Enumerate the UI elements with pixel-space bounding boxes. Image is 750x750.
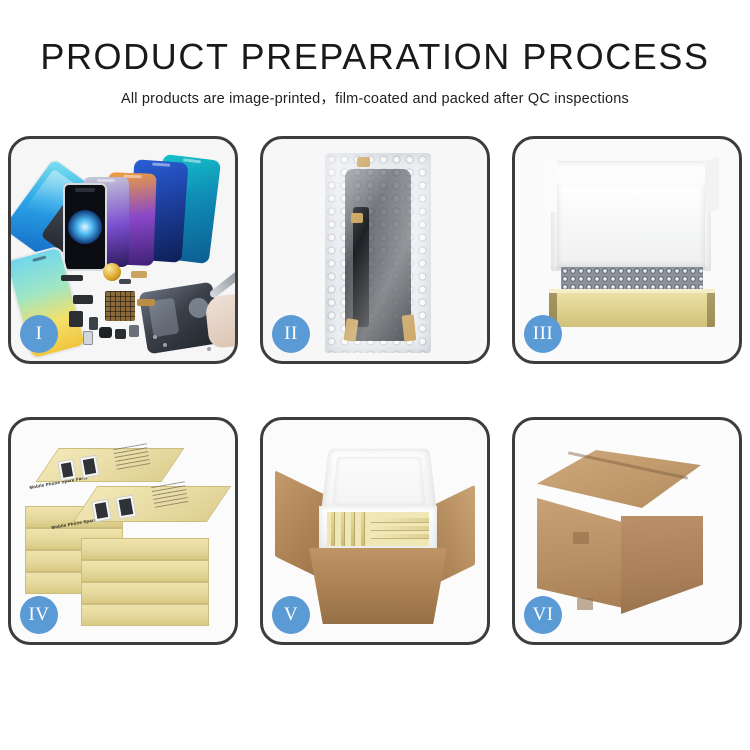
spare-part-icon (89, 317, 98, 330)
foam-lid-icon (321, 449, 437, 514)
yellow-box-face (371, 534, 429, 539)
screw-icon (153, 335, 157, 339)
yellow-box-side (81, 560, 209, 582)
boxes-inside-carton (327, 512, 429, 546)
screw-icon (163, 343, 167, 347)
notch-icon (152, 162, 170, 166)
process-step-stacked-retail-boxes: Mobile Phone Spare Parts Mobile Phone Sp… (8, 417, 238, 645)
step-badge-4: IV (20, 596, 58, 634)
spare-part-icon (129, 325, 139, 337)
spare-part-icon (69, 311, 83, 327)
box-thumbnail (115, 495, 137, 520)
spare-part-icon (99, 327, 112, 338)
yellow-box-side (81, 604, 209, 626)
spare-part-icon (61, 275, 83, 281)
carton-tape-mark (577, 598, 593, 610)
spare-part-icon (137, 299, 155, 306)
yellow-box-edge (331, 512, 335, 546)
notch-icon (183, 158, 201, 163)
box-thumbnail (79, 455, 99, 479)
process-step-parts-and-screens: I (8, 136, 238, 364)
yellow-box-edge (341, 512, 345, 546)
yellow-box-face (371, 526, 429, 531)
box-thumbnail (57, 459, 76, 481)
phone-screen-black-icon (63, 183, 107, 271)
carton-top-face (537, 450, 701, 508)
connector-tab-icon (351, 213, 363, 223)
product-preparation-infographic: PRODUCT PREPARATION PROCESS All products… (0, 0, 750, 750)
step-badge-2: II (272, 315, 310, 353)
connector-tab-icon (402, 314, 417, 341)
carton-front-face (537, 498, 623, 608)
spare-part-icon (119, 279, 131, 284)
spare-part-icon (115, 329, 126, 339)
page-title: PRODUCT PREPARATION PROCESS (0, 38, 750, 76)
flex-cable-icon (353, 207, 369, 327)
yellow-box-face (371, 518, 429, 523)
gold-disc-part-icon (103, 263, 121, 281)
spare-part-icon (73, 295, 93, 304)
box-thumbnail (91, 499, 111, 523)
process-step-carton-with-foam-liner: V (260, 417, 490, 645)
spare-part-icon (131, 271, 147, 278)
step-badge-3: III (524, 315, 562, 353)
chip-grid-part-icon (105, 291, 135, 321)
process-step-foam-lined-yellow-box: III (512, 136, 742, 364)
yellow-box-side (81, 582, 209, 604)
step-badge-5: V (272, 596, 310, 634)
process-step-sealed-shipping-carton: VI (512, 417, 742, 645)
step-badge-1: I (20, 315, 58, 353)
notch-icon (97, 179, 115, 182)
spare-part-icon (83, 331, 93, 345)
yellow-box-tray-icon (549, 293, 715, 327)
page-subtitle: All products are image-printed，film-coat… (0, 87, 750, 108)
carton-side-face (621, 516, 703, 614)
step-badge-6: VI (524, 596, 562, 634)
carton-tape-mark (573, 532, 589, 544)
foam-sheet-icon (557, 185, 705, 269)
yellow-box-edge (351, 512, 355, 546)
connector-tab-icon (357, 157, 370, 167)
screw-icon (207, 347, 211, 351)
yellow-box-side (81, 538, 209, 560)
yellow-box-edge (361, 512, 365, 546)
header: PRODUCT PREPARATION PROCESS All products… (0, 0, 750, 108)
carton-body (309, 548, 447, 624)
process-step-bubble-wrapped-part: II (260, 136, 490, 364)
process-step-grid: I II (8, 136, 742, 676)
bubble-wrap-bag-icon (325, 153, 431, 353)
